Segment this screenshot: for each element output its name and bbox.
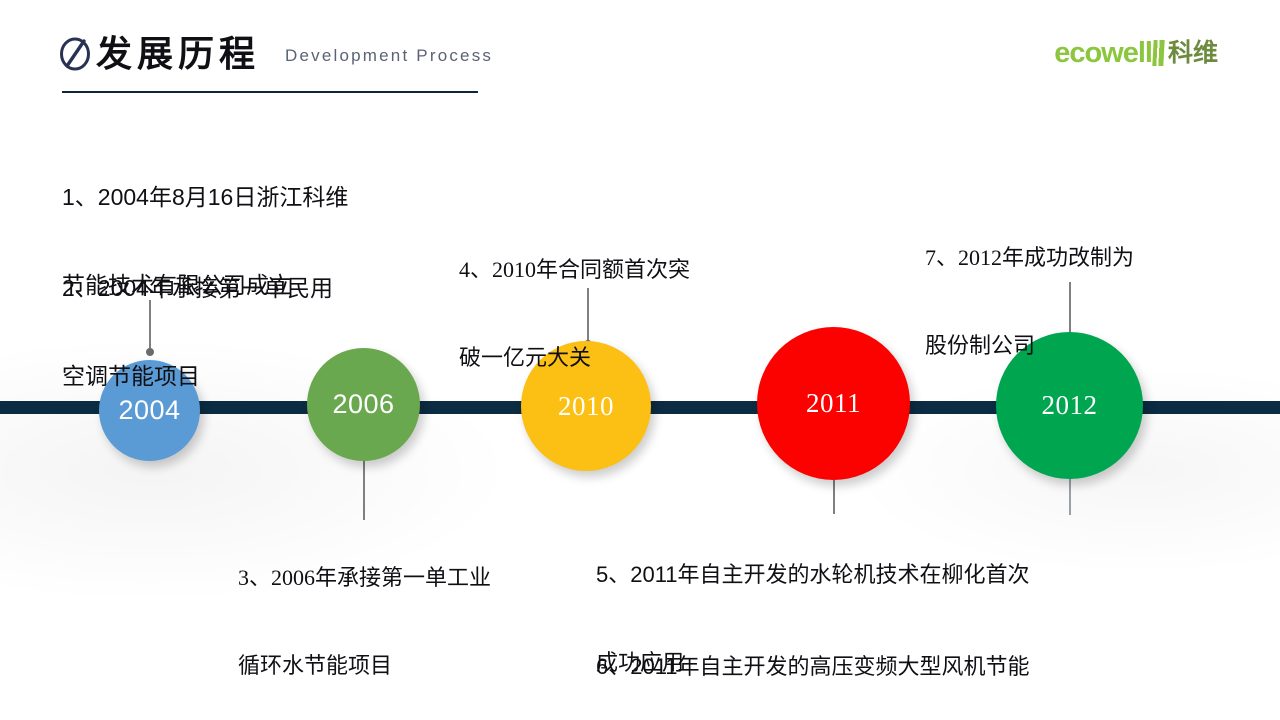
event-1-line-1: 1、2004年8月16日浙江科维	[62, 175, 348, 219]
event-text-4: 4、2010年合同额首次突 破一亿元大关	[459, 204, 690, 424]
logo-wordmark: ecowell	[1054, 37, 1152, 69]
event-text-6: 6、2011年自主开发的高压变频大型风机节能 技术在荣成钢铁首次成功应用	[596, 601, 1030, 720]
page-subtitle: Development Process	[285, 44, 493, 68]
logo-bars-icon	[1152, 40, 1164, 66]
brand-logo: ecowell 科维	[1054, 36, 1218, 70]
event-5-line-1: 5、2011年自主开发的水轮机技术在柳化首次	[596, 553, 1030, 597]
slashed-circle-icon	[58, 34, 94, 74]
node-year-label: 2006	[332, 391, 394, 418]
event-text-3: 3、2006年承接第一单工业 循环水节能项目	[238, 512, 491, 720]
event-4-line-1: 4、2010年合同额首次突	[459, 248, 690, 292]
event-7-line-1: 7、2012年成功改制为	[925, 236, 1134, 280]
event-3-line-2: 循环水节能项目	[238, 644, 491, 688]
event-6-line-1: 6、2011年自主开发的高压变频大型风机节能	[596, 645, 1030, 689]
slide-header: 发展历程 Development Process ecowell 科维	[0, 0, 1280, 110]
timeline-node-2011[interactable]: 2011	[757, 327, 910, 480]
slide-canvas: 发展历程 Development Process ecowell 科维 2004…	[0, 0, 1280, 720]
event-text-7: 7、2012年成功改制为 股份制公司	[925, 192, 1134, 412]
page-title: 发展历程	[96, 32, 260, 76]
event-3-line-1: 3、2006年承接第一单工业	[238, 556, 491, 600]
event-4-line-2: 破一亿元大关	[459, 336, 690, 380]
connector-2006	[363, 452, 365, 520]
event-2-line-2: 空调节能项目	[62, 354, 333, 398]
title-divider	[62, 91, 478, 93]
node-year-label: 2011	[806, 390, 861, 417]
event-2-line-1: 2、2004年承接第一单民用	[62, 266, 333, 310]
event-7-line-2: 股份制公司	[925, 324, 1134, 368]
event-text-2: 2、2004年承接第一单民用 空调节能项目	[62, 222, 333, 442]
logo-chinese-name: 科维	[1168, 39, 1218, 67]
